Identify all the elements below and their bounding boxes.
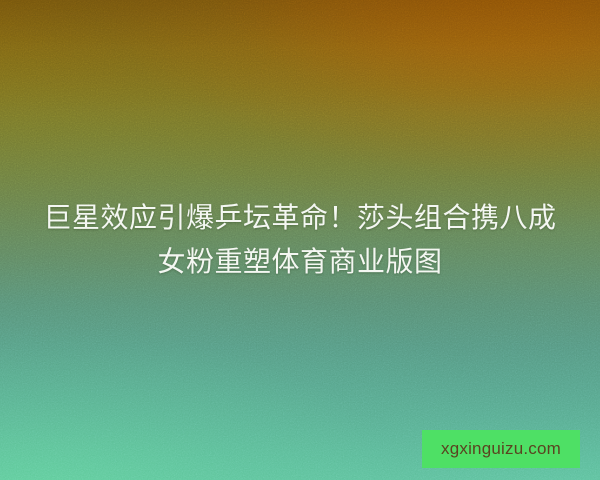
- headline-title: 巨星效应引爆乒坛革命！莎头组合携八成 女粉重塑体育商业版图: [0, 196, 600, 284]
- banner-image: 巨星效应引爆乒坛革命！莎头组合携八成 女粉重塑体育商业版图 xgxinguizu…: [0, 0, 600, 480]
- headline-line-2: 女粉重塑体育商业版图: [18, 240, 582, 284]
- headline-line-1: 巨星效应引爆乒坛革命！莎头组合携八成: [18, 196, 582, 240]
- watermark-badge: xgxinguizu.com: [422, 430, 580, 468]
- watermark-url-label: xgxinguizu.com: [441, 439, 561, 459]
